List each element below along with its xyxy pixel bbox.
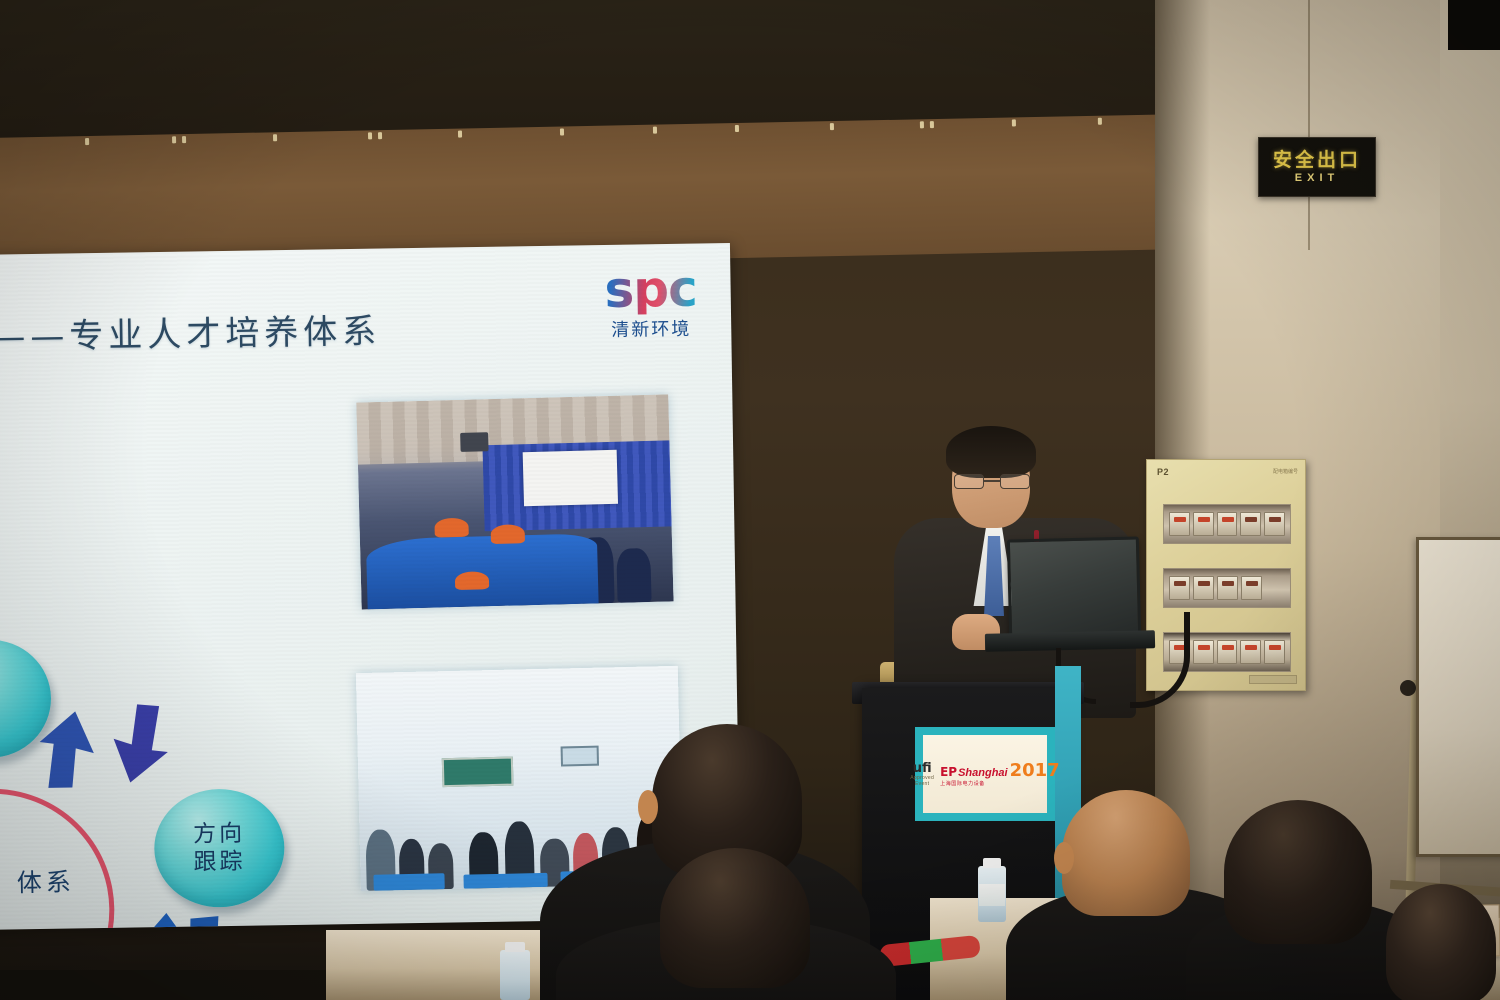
- electrical-panel-tag: 配电箱编号: [1273, 468, 1298, 475]
- diagram-bubble-right-line1: 方向: [193, 820, 245, 849]
- ep-logo-chinese: 上海国际电力设备: [940, 782, 1060, 787]
- slide-photo-training-room: [356, 394, 673, 609]
- audience-head-bald: [1062, 790, 1190, 916]
- ufi-logo-sub-approved: Approved: [910, 776, 934, 781]
- ufi-logo-word: ufi: [910, 762, 934, 775]
- spc-logo: spc 清新环境: [580, 263, 721, 342]
- whiteboard: [1416, 537, 1500, 857]
- diagram-center-label-line2: 体系: [17, 867, 75, 897]
- wall-seam: [1308, 0, 1310, 250]
- exit-sign: 安全出口 EXIT: [1258, 137, 1376, 197]
- audience-head-4: [1224, 800, 1372, 944]
- podium-event-sign: ufi Approved Event EP Shanghai 2017 上海国际…: [915, 727, 1055, 821]
- diagram-bubble-top-line2: 责: [0, 699, 3, 726]
- water-bottle-left: [500, 950, 530, 1000]
- water-bottle-center-cap: [983, 858, 1001, 868]
- laptop-screen[interactable]: [1007, 536, 1141, 637]
- ufi-logo-sub-event: Event: [910, 782, 934, 787]
- diagram-arrow-upper: [39, 690, 171, 802]
- audience-ear-bald: [1054, 842, 1074, 874]
- exit-sign-chinese-label: 安全出口: [1273, 151, 1361, 170]
- presenter-glasses: [954, 474, 1030, 489]
- breaker-row-middle[interactable]: [1163, 568, 1291, 608]
- diagram-center-label-line1: 人才培: [0, 869, 5, 899]
- presenter-hair: [946, 426, 1036, 478]
- slide-title: ——专业人才培养体系: [0, 304, 382, 359]
- diagram-center-ring: [0, 787, 116, 930]
- exit-sign-english-label: EXIT: [1295, 173, 1339, 184]
- water-bottle-left-cap: [505, 942, 525, 952]
- audience-head-2: [660, 848, 810, 988]
- ep-logo-year: 2017: [1010, 762, 1060, 780]
- diagram-bubble-top-line1: 人: [0, 672, 2, 699]
- ceiling-corner: [1448, 0, 1500, 50]
- conference-room-scene: 安全出口 EXIT P2 配电箱编号 ——专业人才培养体系 spc 清新环境 人…: [0, 0, 1500, 1000]
- spc-logo-mark: spc: [580, 263, 721, 315]
- whiteboard-clamp: [1400, 680, 1416, 696]
- projection-screen: ——专业人才培养体系 spc 清新环境 人才培 体系 人 责 方向 跟踪 考评 …: [0, 243, 741, 930]
- audience-ear-1: [638, 790, 658, 824]
- ep-logo-abbrev: EP: [940, 766, 957, 778]
- ufi-logo: ufi Approved Event: [910, 762, 934, 787]
- diagram-bubble-right-line2: 跟踪: [193, 848, 245, 877]
- diagram-center-label: 人才培 体系: [0, 865, 88, 901]
- electrical-panel-plate: [1249, 675, 1297, 684]
- spc-logo-subtitle: 清新环境: [581, 314, 721, 342]
- diagram-bubble-right: 方向 跟踪: [153, 788, 285, 908]
- water-bottle-center-label: [979, 884, 1005, 906]
- audience-head-5: [1386, 884, 1496, 1000]
- electrical-panel-label: P2: [1157, 467, 1169, 477]
- breaker-row-top[interactable]: [1163, 504, 1291, 544]
- ep-shanghai-logo: EP Shanghai 2017 上海国际电力设备: [940, 762, 1060, 787]
- ep-logo-city: Shanghai: [958, 768, 1008, 779]
